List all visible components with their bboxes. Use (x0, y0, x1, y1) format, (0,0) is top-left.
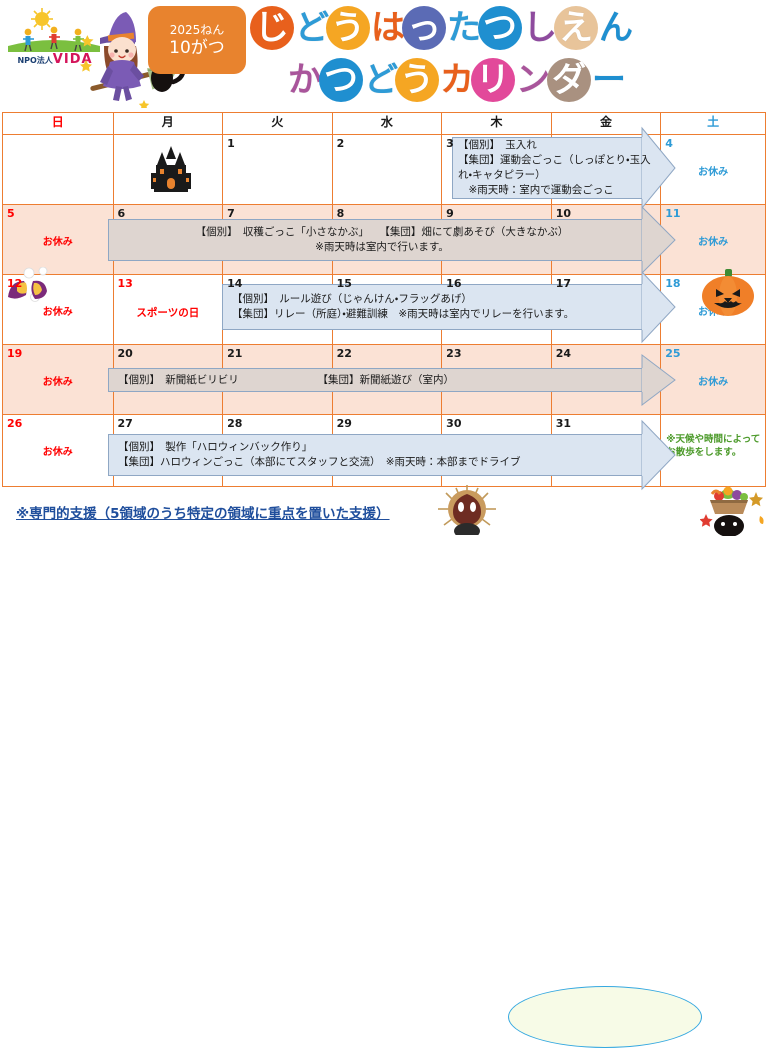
day-cell[interactable] (3, 135, 114, 205)
day-cell[interactable]: 9 (442, 205, 552, 275)
activity-calendar: 日 月 火 水 木 金 土 (2, 112, 766, 487)
date-number: 22 (337, 347, 352, 360)
title-char: か (288, 58, 318, 102)
day-cell[interactable] (551, 135, 661, 205)
title-char: う (326, 6, 370, 50)
holiday-label: スポーツの日 (114, 305, 223, 320)
date-number: 18 (665, 277, 680, 290)
saturday-note: ※天候や時間によってお散歩をします。 (666, 433, 761, 459)
day-cell-sunday[interactable]: 5 お休み (3, 205, 114, 275)
date-number: 11 (665, 207, 680, 220)
calendar-week-row: 5 お休み 6 7 8 9 10 11 お休み (3, 205, 766, 275)
title-char: た (447, 6, 477, 50)
day-cell[interactable]: 28 (223, 415, 333, 487)
date-number: 20 (118, 347, 133, 360)
date-number: 23 (446, 347, 461, 360)
date-number: 14 (227, 277, 242, 290)
day-cell[interactable]: 3 (442, 135, 552, 205)
date-number: 1 (227, 137, 235, 150)
date-number: 30 (446, 417, 461, 430)
weekday-header-tue: 火 (223, 113, 333, 135)
date-number: 12 (7, 277, 22, 290)
day-cell[interactable]: 20 (113, 345, 223, 415)
day-cell[interactable]: 8 (332, 205, 442, 275)
rest-label: お休み (3, 373, 113, 388)
date-number: 21 (227, 347, 242, 360)
rest-label: お休み (3, 303, 113, 318)
chestnut-character-icon (434, 485, 500, 535)
title-line-1: じ ど う は っ た つ し え ん (250, 2, 766, 54)
title-char: ど (364, 58, 394, 102)
day-cell[interactable]: 29 (332, 415, 442, 487)
harvest-basket-with-black-cat-icon (700, 484, 768, 536)
day-cell-saturday[interactable]: 11 お休み (661, 205, 766, 275)
day-cell-sunday[interactable]: 19 お休み (3, 345, 114, 415)
title-char: つ (319, 58, 363, 102)
date-number: 3 (446, 137, 454, 150)
weekday-header-wed: 水 (332, 113, 442, 135)
date-number: 19 (7, 347, 22, 360)
day-cell[interactable]: 21 (223, 345, 333, 415)
month-badge: 2025ねん 10がつ (148, 6, 246, 74)
date-number: 16 (446, 277, 461, 290)
day-cell[interactable]: 17 (551, 275, 661, 345)
date-number: 29 (337, 417, 352, 430)
page-title: じ ど う は っ た つ し え ん か つ ど う カ リ ン ダ ー (250, 2, 766, 110)
rest-label: お休み (661, 163, 765, 178)
weekday-header-thu: 木 (442, 113, 552, 135)
day-cell[interactable]: 6 (113, 205, 223, 275)
speech-bubble (508, 986, 702, 1048)
title-char: う (395, 58, 439, 102)
date-number: 28 (227, 417, 242, 430)
day-cell[interactable]: 30 (442, 415, 552, 487)
page-footer: ※専門的支援（5領域のうち特定の領域に重点を置いた支援） (0, 488, 768, 532)
day-cell[interactable]: 16 (442, 275, 552, 345)
date-number: 7 (227, 207, 235, 220)
rest-label: お休み (661, 233, 765, 248)
weekday-header-mon: 月 (113, 113, 223, 135)
date-number: 25 (665, 347, 680, 360)
date-number: 2 (337, 137, 345, 150)
date-number: 31 (556, 417, 571, 430)
title-char: ー (592, 58, 622, 102)
weekday-header-sat: 土 (661, 113, 766, 135)
day-cell[interactable]: 31 (551, 415, 661, 487)
day-cell[interactable]: 27 (113, 415, 223, 487)
day-cell-saturday[interactable]: 18 お休み (661, 275, 766, 345)
title-char: ダ (547, 58, 591, 102)
date-number: 5 (7, 207, 15, 220)
date-number: 8 (337, 207, 345, 220)
rest-label: お休み (661, 373, 765, 388)
footer-note: ※専門的支援（5領域のうち特定の領域に重点を置いた支援） (16, 502, 390, 522)
calendar-week-row: 12 お休み 13 スポーツの日 14 15 16 17 (3, 275, 766, 345)
day-cell[interactable]: 10 (551, 205, 661, 275)
haunted-house-icon (148, 145, 194, 197)
day-cell[interactable]: 23 (442, 345, 552, 415)
calendar-week-row: 1 2 3 4 お休み (3, 135, 766, 205)
org-label: NPO法人 (17, 56, 52, 65)
date-number: 4 (665, 137, 673, 150)
date-number: 13 (118, 277, 133, 290)
rest-label: お休み (3, 233, 113, 248)
page-header: NPO法人VIDA (0, 0, 768, 112)
calendar-week-row: 19 お休み 20 21 22 23 24 25 お休み (3, 345, 766, 415)
title-char: し (523, 6, 553, 50)
title-char: ン (516, 58, 546, 102)
day-cell[interactable]: 1 (223, 135, 333, 205)
day-cell[interactable]: 13 スポーツの日 (113, 275, 223, 345)
weekday-header-sun: 日 (3, 113, 114, 135)
day-cell[interactable]: 24 (551, 345, 661, 415)
day-cell-saturday[interactable]: ※天候や時間によってお散歩をします。 (661, 415, 766, 487)
title-char: リ (471, 58, 515, 102)
title-line-2: か つ ど う カ リ ン ダ ー (250, 54, 766, 106)
title-char: は (371, 6, 401, 50)
date-number: 10 (556, 207, 571, 220)
day-cell[interactable]: 14 (223, 275, 333, 345)
title-char: っ (402, 6, 446, 50)
year-label: 2025ねん (170, 23, 225, 38)
day-cell[interactable]: 7 (223, 205, 333, 275)
day-cell-sunday[interactable]: 26 お休み (3, 415, 114, 487)
title-char: ど (295, 6, 325, 50)
title-char: カ (440, 58, 470, 102)
day-cell[interactable]: 15 (332, 275, 442, 345)
day-cell[interactable]: 22 (332, 345, 442, 415)
calendar-header-row: 日 月 火 水 木 金 土 (3, 113, 766, 135)
day-cell[interactable]: 2 (332, 135, 442, 205)
day-cell[interactable] (113, 135, 223, 205)
date-number: 27 (118, 417, 133, 430)
date-number: 17 (556, 277, 571, 290)
day-cell-saturday[interactable]: 25 お休み (661, 345, 766, 415)
rest-label: お休み (661, 303, 765, 318)
title-char: つ (478, 6, 522, 50)
date-number: 6 (118, 207, 126, 220)
title-char: ん (599, 6, 629, 50)
title-char: じ (250, 6, 294, 50)
title-char: え (554, 6, 598, 50)
weekday-header-fri: 金 (551, 113, 661, 135)
date-number: 9 (446, 207, 454, 220)
date-number: 24 (556, 347, 571, 360)
calendar-week-row: 26 お休み 27 28 29 30 31 ※天候や時間によってお散歩をします。 (3, 415, 766, 487)
date-number: 26 (7, 417, 22, 430)
day-cell-saturday[interactable]: 4 お休み (661, 135, 766, 205)
date-number: 15 (337, 277, 352, 290)
rest-label: お休み (3, 443, 113, 458)
month-label: 10がつ (169, 38, 225, 58)
day-cell-sunday[interactable]: 12 お休み (3, 275, 114, 345)
